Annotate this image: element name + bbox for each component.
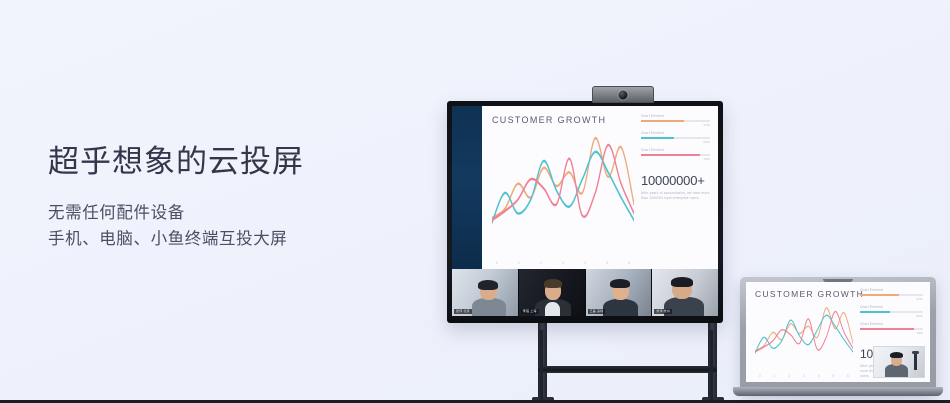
- laptop-lid: CUSTOMER GROWTH 0 1 2 3 4 5 6: [740, 277, 936, 389]
- chart-tick: 3: [803, 375, 805, 378]
- hero-subtitle-line-1: 无需任何配件设备: [48, 200, 408, 227]
- participant-name-label: 李强 上海: [521, 309, 539, 315]
- hero-banner: 超乎想象的云投屏 无需任何配件设备 手机、电脑、小鱼终端互投大屏 CUSTOME…: [0, 0, 950, 403]
- stat-label: Chart Element: [860, 323, 923, 327]
- customer-growth-chart: [492, 129, 634, 261]
- stat-label: Chart Element: [860, 306, 923, 310]
- stat-label: Chart Element: [641, 115, 710, 119]
- stat-value: 37%: [641, 123, 710, 127]
- participant-filmstrip: 张伟 北京 李强 上海 王磊 深圳: [452, 269, 718, 316]
- stat-row: Chart Element 37%: [641, 115, 710, 127]
- stat-value: 59%: [860, 314, 923, 318]
- laptop-hinge-notch: [823, 279, 853, 282]
- display-trolley-stand: [440, 318, 730, 403]
- stat-label: Chart Element: [860, 289, 923, 293]
- stat-bar-fill: [641, 137, 674, 139]
- stand-leg-overlay-right: [710, 330, 713, 403]
- chart-x-axis: 0 1 2 3 4 5 6: [492, 262, 634, 265]
- stat-bar-fill: [641, 154, 700, 156]
- participant-name-label: 王磊 深圳: [588, 309, 606, 315]
- participant-name-label: 刘洋 杭州: [654, 309, 672, 315]
- chart-tick: 2: [788, 375, 790, 378]
- shared-slide: CUSTOMER GROWTH 0 1 2 3 4 5: [452, 106, 718, 269]
- stat-bar: [860, 294, 923, 296]
- chart-tick: 2: [540, 262, 542, 265]
- hero-subtitle-line-2: 手机、电脑、小鱼终端互投大屏: [48, 226, 408, 253]
- stat-row: Chart Element 37%: [860, 289, 923, 301]
- laptop-screen: CUSTOMER GROWTH 0 1 2 3 4 5 6: [746, 282, 930, 382]
- conference-display: CUSTOMER GROWTH 0 1 2 3 4 5: [447, 101, 723, 323]
- stat-row: Chart Element 59%: [641, 132, 710, 144]
- laptop-pip-video[interactable]: [873, 346, 925, 378]
- slide-title: CUSTOMER GROWTH: [492, 115, 634, 125]
- stat-bar-fill: [641, 120, 684, 122]
- stand-leg-overlay-left: [540, 330, 543, 403]
- participant-tile[interactable]: 刘洋 杭州: [652, 269, 718, 316]
- chart-tick: 1: [774, 375, 776, 378]
- stat-label: Chart Element: [641, 132, 710, 136]
- laptop-shadow: [739, 395, 937, 399]
- display-screen: CUSTOMER GROWTH 0 1 2 3 4 5: [452, 106, 718, 316]
- stat-bar: [860, 328, 923, 330]
- stat-row: Chart Element 59%: [860, 306, 923, 318]
- stat-value: 59%: [641, 140, 710, 144]
- camera-lens-icon: [619, 90, 628, 99]
- slide-big-caption: After years of accumulation, we have mor…: [641, 191, 710, 201]
- chart-tick: 4: [584, 262, 586, 265]
- participant-tile[interactable]: 张伟 北京: [452, 269, 518, 316]
- stat-bar-fill: [860, 294, 899, 296]
- conference-camera-bar: [592, 86, 654, 103]
- stat-row: Chart Element 78%: [641, 149, 710, 161]
- stand-crossbar: [538, 366, 717, 373]
- laptop-chart-column: CUSTOMER GROWTH 0 1 2 3 4 5 6: [755, 289, 853, 378]
- stat-value: 78%: [641, 157, 710, 161]
- slide-stats-column: Chart Element 37% Chart Element 59%: [634, 115, 710, 265]
- chart-tick: 6: [628, 262, 630, 265]
- slide-chart-column: CUSTOMER GROWTH 0 1 2 3 4 5: [492, 115, 634, 265]
- stat-bar: [641, 137, 710, 139]
- chart-svg: [492, 129, 634, 261]
- stat-bar-fill: [860, 328, 914, 330]
- page-title: 超乎想象的云投屏: [48, 142, 408, 182]
- chart-series-line: [755, 315, 853, 353]
- chart-tick: 1: [518, 262, 520, 265]
- chart-tick: 3: [562, 262, 564, 265]
- chart-tick: 0: [759, 375, 761, 378]
- laptop-slide-title: CUSTOMER GROWTH: [755, 289, 853, 299]
- stat-bar: [641, 120, 710, 122]
- stat-label: Chart Element: [641, 149, 710, 153]
- stat-bar: [860, 311, 923, 313]
- slide-big-number: 10000000+: [641, 173, 710, 188]
- stat-value: 78%: [860, 331, 923, 335]
- laptop-customer-growth-chart: [755, 303, 853, 374]
- laptop-device: CUSTOMER GROWTH 0 1 2 3 4 5 6: [733, 277, 943, 403]
- stat-bar: [641, 154, 710, 156]
- slide-body: CUSTOMER GROWTH 0 1 2 3 4 5: [482, 106, 718, 269]
- participant-tile[interactable]: 王磊 深圳: [586, 269, 652, 316]
- chart-tick: 4: [818, 375, 820, 378]
- chart-tick: 0: [496, 262, 498, 265]
- participant-name-label: 张伟 北京: [454, 309, 472, 315]
- chart-tick: 5: [606, 262, 608, 265]
- stat-row: Chart Element 78%: [860, 323, 923, 335]
- slide-sidebar: [452, 106, 482, 269]
- stat-value: 37%: [860, 297, 923, 301]
- chart-tick: 6: [847, 375, 849, 378]
- chart-tick: 5: [832, 375, 834, 378]
- hero-subtitle: 无需任何配件设备 手机、电脑、小鱼终端互投大屏: [48, 200, 408, 253]
- stat-bar-fill: [860, 311, 890, 313]
- hero-copy: 超乎想象的云投屏 无需任何配件设备 手机、电脑、小鱼终端互投大屏: [48, 142, 408, 253]
- chart-series-line: [492, 152, 634, 223]
- participant-tile[interactable]: 李强 上海: [519, 269, 585, 316]
- laptop-chart-x-axis: 0 1 2 3 4 5 6: [755, 375, 853, 378]
- laptop-chart-svg: [755, 303, 853, 374]
